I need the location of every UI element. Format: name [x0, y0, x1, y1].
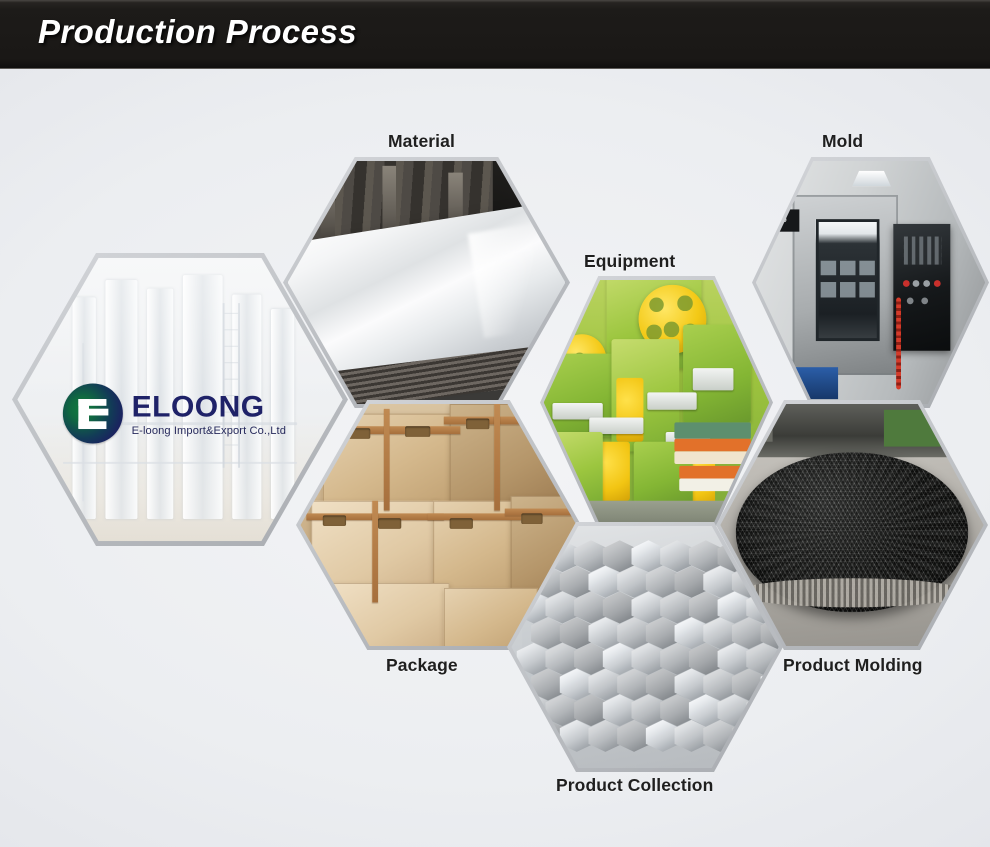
hex-label-package: Package: [386, 655, 458, 676]
machine-nameplate: 650: [763, 210, 800, 232]
logo-tagline: E-loong Import&Export Co.,Ltd: [132, 425, 286, 437]
photo-green-punch-presses: [544, 280, 770, 525]
page-title: Production Process: [38, 13, 357, 51]
photo-cnc-machining-center: 650: [756, 161, 985, 404]
hex-photo-mold: 650: [756, 161, 985, 404]
production-process-infographic: Production Process: [0, 0, 990, 847]
hex-cell: [730, 719, 767, 752]
header-banner: Production Process: [0, 0, 990, 68]
hex-cell: [759, 719, 778, 752]
hex-label-material: Material: [388, 131, 455, 152]
hex-label-mold: Mold: [822, 131, 863, 152]
logo-company-name: ELOONG: [132, 391, 286, 421]
hex-tile-mold: 650: [752, 157, 989, 408]
eloong-circle-emblem-icon: [63, 384, 123, 444]
hex-label-equipment: Equipment: [584, 251, 675, 272]
hex-label-product-collection: Product Collection: [556, 775, 713, 796]
company-logo: ELOONG E-loong Import&Export Co.,Ltd: [63, 377, 304, 451]
hex-label-product-molding: Product Molding: [783, 655, 923, 676]
hex-photo-equipment: [544, 280, 770, 525]
